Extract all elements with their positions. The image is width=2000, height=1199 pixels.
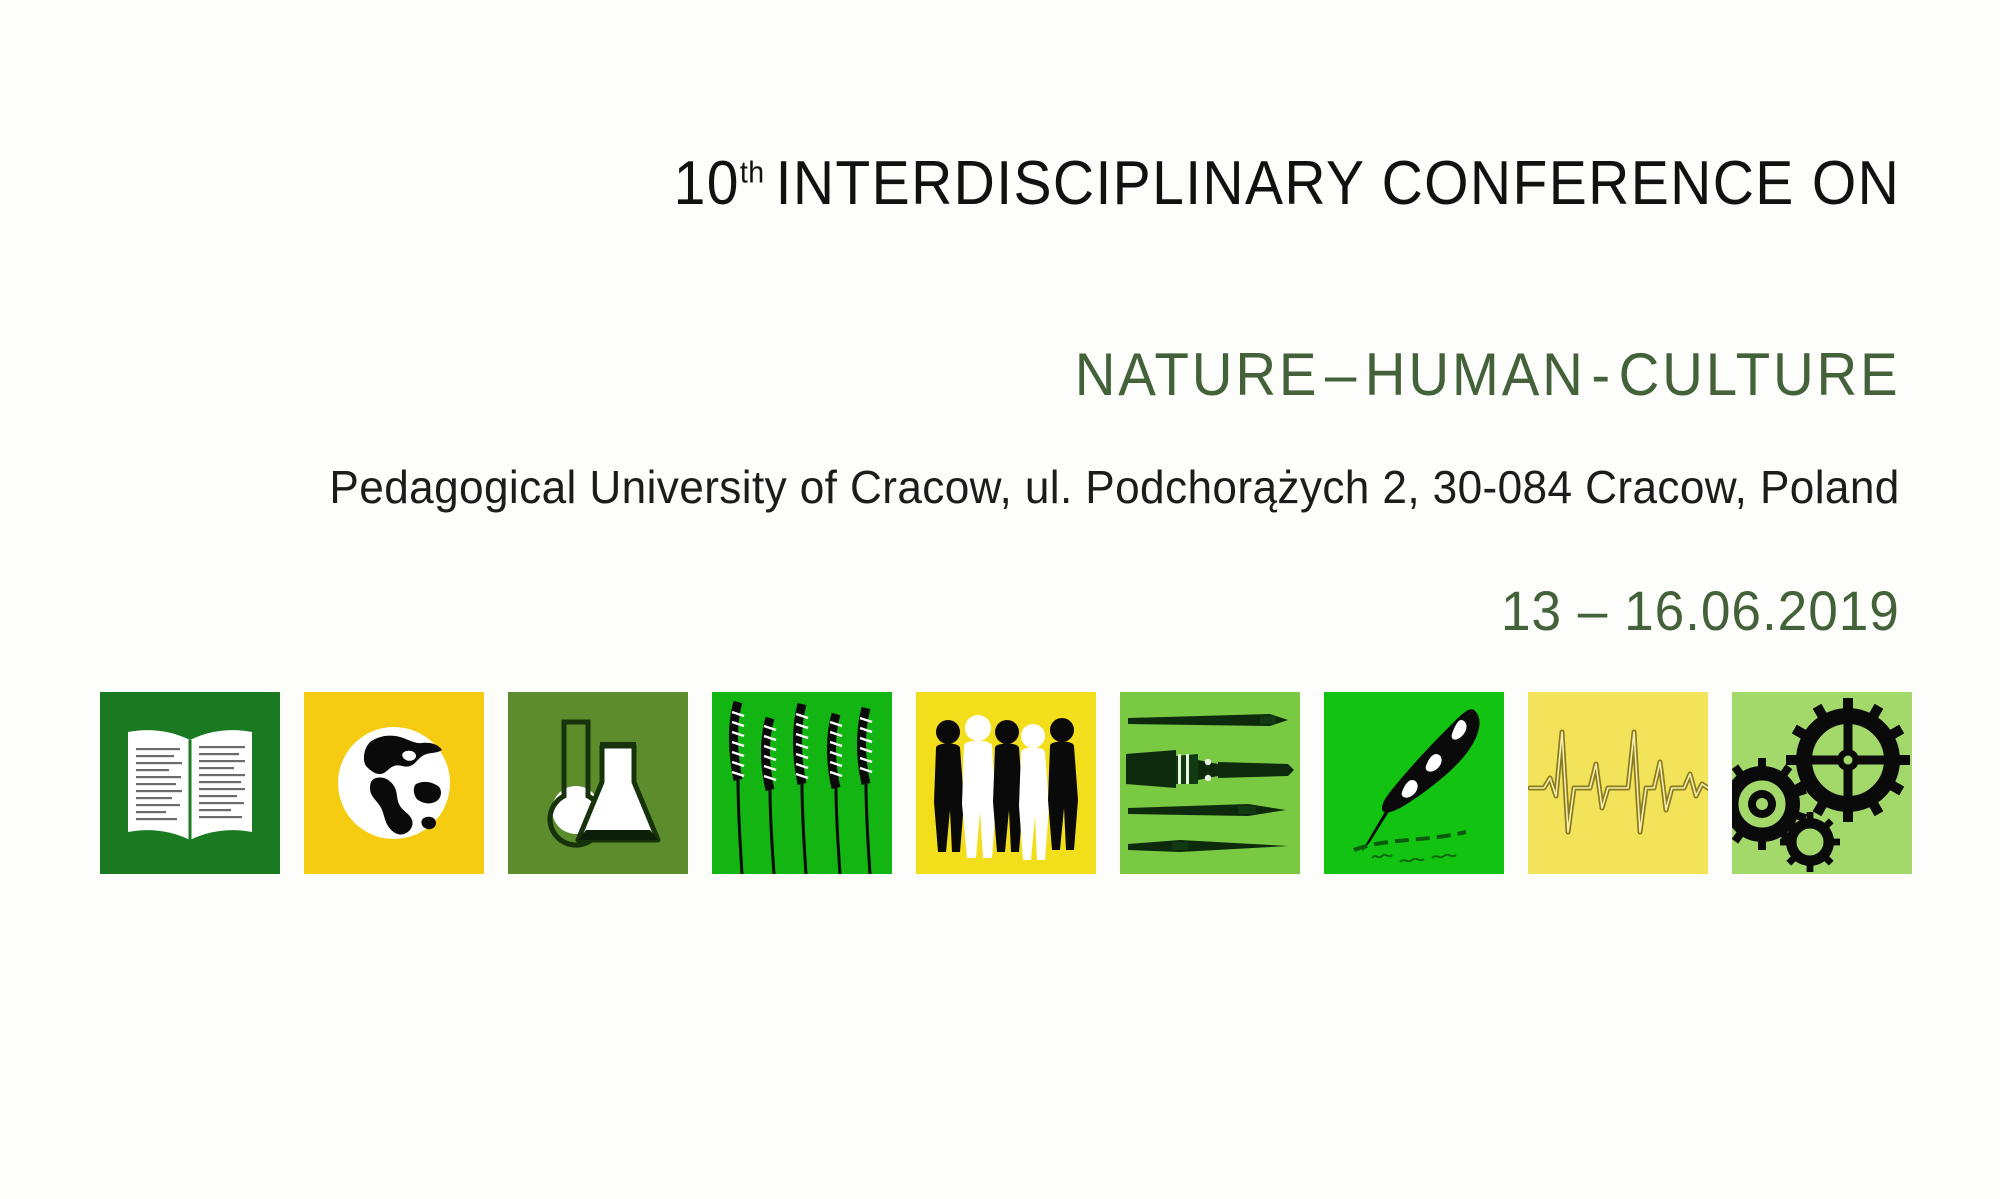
tile-heartbeat	[1528, 692, 1708, 874]
gears-icon	[1732, 692, 1912, 874]
theme-word-human: HUMAN	[1364, 341, 1585, 408]
page-title: 10thINTERDISCIPLINARY CONFERENCE ON	[673, 148, 1900, 219]
tile-people-group	[916, 692, 1096, 874]
tile-wheat-ears	[712, 692, 892, 874]
conference-dates: 13 – 16.06.2019	[1501, 578, 1900, 643]
tile-gears	[1732, 692, 1912, 874]
title-main-text: INTERDISCIPLINARY CONFERENCE ON	[775, 149, 1900, 218]
lab-flasks-icon	[508, 692, 688, 874]
tile-lab-flasks	[508, 692, 688, 874]
tile-open-book	[100, 692, 280, 874]
conference-banner: 10thINTERDISCIPLINARY CONFERENCE ON NATU…	[0, 0, 2000, 1199]
title-ordinal-number: 10	[673, 149, 739, 218]
theme-word-nature: NATURE	[1074, 341, 1319, 408]
title-ordinal-suffix: th	[740, 154, 765, 189]
open-book-icon	[100, 692, 280, 874]
globe-icon	[304, 692, 484, 874]
theme-separator-1: –	[1319, 341, 1364, 408]
theme-separator-2: -	[1585, 341, 1618, 408]
quill-pen-icon	[1324, 692, 1504, 874]
tile-globe	[304, 692, 484, 874]
people-group-icon	[916, 692, 1096, 874]
tile-quill-pen	[1324, 692, 1504, 874]
tile-paintbrush	[1120, 692, 1300, 874]
conference-theme: NATURE–HUMAN-CULTURE	[1074, 340, 1900, 409]
icon-strip	[100, 692, 1960, 874]
wheat-ears-icon	[712, 692, 892, 874]
theme-word-culture: CULTURE	[1618, 341, 1900, 408]
heartbeat-icon	[1528, 692, 1708, 874]
paintbrush-icon	[1120, 692, 1300, 874]
venue-address: Pedagogical University of Cracow, ul. Po…	[330, 460, 1900, 514]
